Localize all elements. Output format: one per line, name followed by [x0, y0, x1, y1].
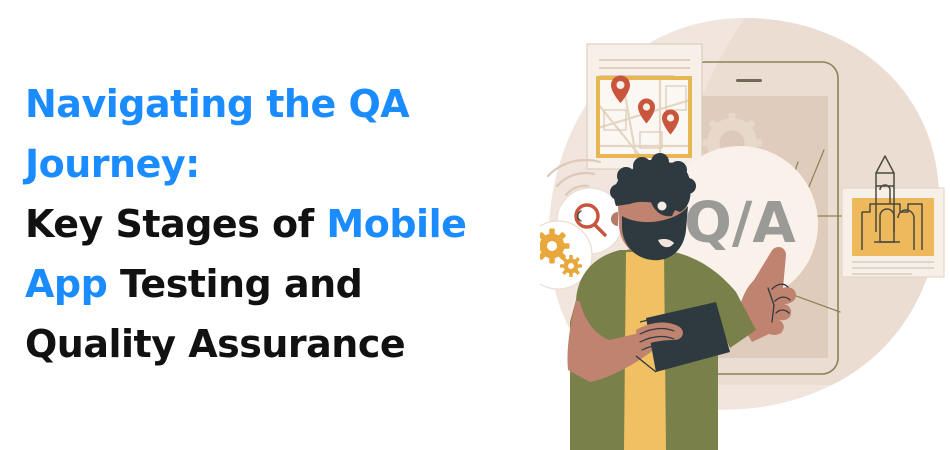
headline-line-3-part-2: Mobile [326, 202, 466, 246]
headline-line-2: Journey: [25, 134, 525, 194]
banner-root: Navigating the QA Journey: Key Stages of… [0, 0, 950, 450]
qa-mobile-testing-illustration: Q/A [540, 0, 950, 450]
qa-badge-label: Q/A [684, 191, 796, 256]
headline-line-5: Quality Assurance [25, 314, 525, 374]
headline-line-4: App Testing and [25, 254, 525, 314]
page-title: Navigating the QA Journey: Key Stages of… [25, 74, 525, 374]
headline-line-3-part-1: Key Stages of [25, 202, 326, 246]
tablet-speaker [736, 79, 762, 82]
headline-line-1: Navigating the QA [25, 74, 525, 134]
headline-line-4-part-1: App [25, 262, 107, 306]
map-document-card [587, 44, 702, 169]
headline-line-3: Key Stages of Mobile [25, 194, 525, 254]
headline-line-4-part-2: Testing and [107, 262, 362, 306]
